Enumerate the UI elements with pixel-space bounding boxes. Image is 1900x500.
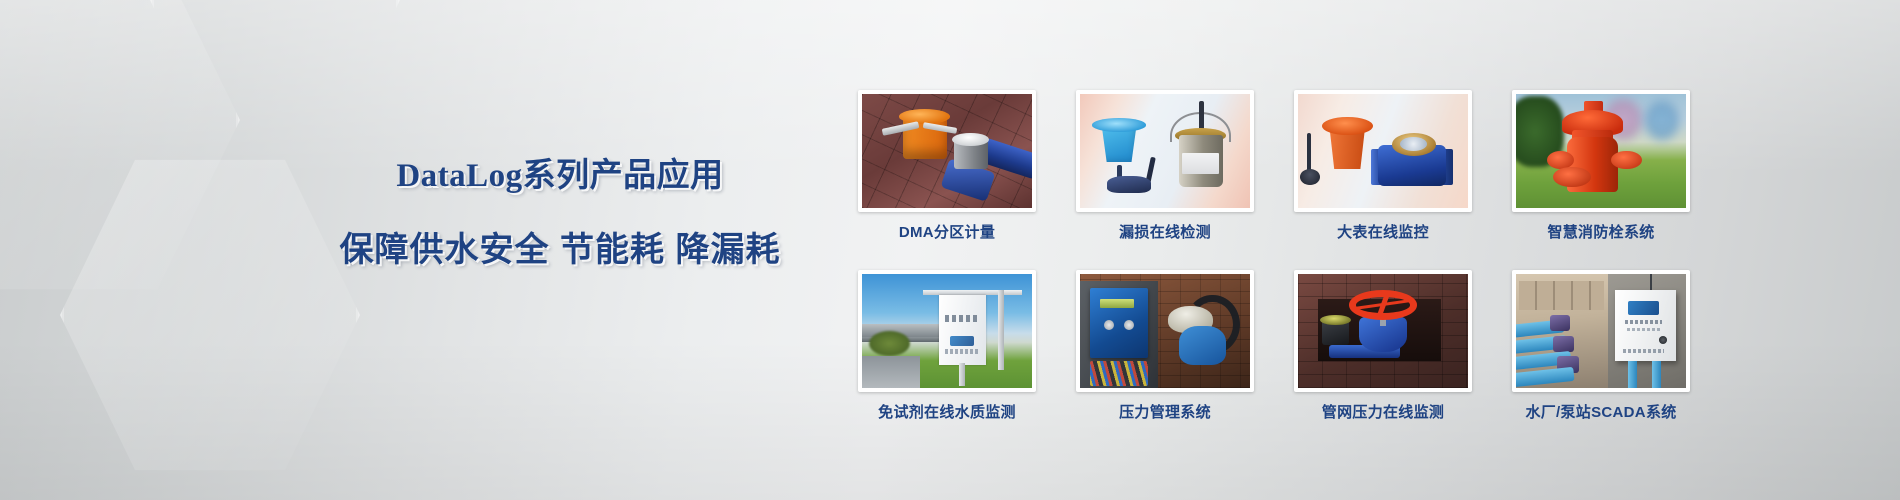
- hydrant-nozzle-right: [1611, 151, 1642, 169]
- signboard-leg: [959, 363, 965, 386]
- wiring-bundle: [1090, 361, 1148, 386]
- orange-enclosure-dome: [1322, 117, 1373, 135]
- dark-blue-sensor-pod: [1107, 176, 1151, 193]
- product-caption: 水厂/泵站SCADA系统: [1512, 401, 1690, 422]
- signboard-title-text: [945, 315, 979, 322]
- product-cell-large-meter[interactable]: 大表在线监控: [1294, 90, 1472, 252]
- cabinet-footer-text: [1623, 349, 1664, 353]
- meter-dial: [1400, 137, 1427, 151]
- antenna-rod: [1307, 133, 1311, 172]
- banner-headline: DataLog系列产品应用 保障供水安全 节能耗 降漏耗: [300, 148, 820, 271]
- product-caption: 管网压力在线监测: [1294, 401, 1472, 422]
- product-caption: 漏损在线检测: [1076, 221, 1254, 242]
- product-thumbnail-frame[interactable]: [858, 270, 1036, 392]
- large-meter-monitoring-photo: [1298, 94, 1468, 208]
- promo-banner: DataLog系列产品应用 保障供水安全 节能耗 降漏耗 DMA分区计量: [0, 0, 1900, 500]
- reagent-free-water-quality-photo: [862, 274, 1032, 388]
- dma-metering-photo: [862, 94, 1032, 208]
- roadside-tree: [869, 331, 910, 356]
- pipe-network-pressure-photo: [1298, 274, 1468, 388]
- scada-system-photo: [1516, 274, 1686, 388]
- product-thumbnail-grid: DMA分区计量 漏损在线检测: [858, 90, 1690, 432]
- cabinet-indicator: [1659, 336, 1668, 344]
- product-cell-smart-hydrant[interactable]: 智慧消防栓系统: [1512, 90, 1690, 252]
- monitoring-station-signboard: [939, 295, 987, 366]
- background-bokeh-right: [1645, 101, 1679, 140]
- headline-line-2: 保障供水安全 节能耗 降漏耗: [300, 222, 820, 271]
- headline-line-1: DataLog系列产品应用: [300, 148, 820, 196]
- company-logo-mark: [950, 336, 974, 346]
- product-thumbnail-frame[interactable]: [1076, 270, 1254, 392]
- cabinet-model-text: [1627, 328, 1661, 331]
- product-thumbnail-frame[interactable]: [1294, 90, 1472, 212]
- controller-button-left[interactable]: [1104, 320, 1114, 330]
- product-cell-dma-metering[interactable]: DMA分区计量: [858, 90, 1036, 252]
- company-logo-mark: [1628, 301, 1659, 315]
- product-thumbnail-frame[interactable]: [1076, 90, 1254, 212]
- pump-motor-1: [1550, 315, 1570, 331]
- product-cell-water-quality[interactable]: 免试剂在线水质监测: [858, 270, 1036, 432]
- product-thumbnail-frame[interactable]: [858, 90, 1036, 212]
- signboard-post: [998, 290, 1004, 370]
- pressure-management-photo: [1080, 274, 1250, 388]
- product-thumbnail-frame[interactable]: [1512, 90, 1690, 212]
- controller-lcd-display: [1100, 299, 1134, 308]
- product-caption: 大表在线监控: [1294, 221, 1472, 242]
- signboard-subtitle-text: [945, 349, 979, 354]
- product-thumbnail-frame[interactable]: [1294, 270, 1472, 392]
- cabinet-conduit-right: [1652, 361, 1661, 388]
- product-caption: DMA分区计量: [858, 221, 1036, 242]
- back-wall-panels: [1519, 281, 1604, 311]
- foreground-road: [862, 356, 920, 388]
- product-caption: 智慧消防栓系统: [1512, 221, 1690, 242]
- blue-housing-flange: [1092, 118, 1146, 132]
- product-cell-pipe-pressure[interactable]: 管网压力在线监测: [1294, 270, 1472, 432]
- product-cell-scada[interactable]: 水厂/泵站SCADA系统: [1512, 270, 1690, 432]
- smart-hydrant-photo: [1516, 94, 1686, 208]
- pump-motor-2: [1553, 336, 1573, 352]
- cabinet-title-text: [1625, 320, 1662, 325]
- logger-label: [1182, 153, 1219, 174]
- product-caption: 免试剂在线水质监测: [858, 401, 1036, 422]
- product-cell-leak-detection[interactable]: 漏损在线检测: [1076, 90, 1254, 252]
- product-caption: 压力管理系统: [1076, 401, 1254, 422]
- product-cell-pressure-management[interactable]: 压力管理系统: [1076, 270, 1254, 432]
- cabinet-conduit-left: [1628, 361, 1637, 388]
- leak-detection-photo: [1080, 94, 1250, 208]
- blue-pump-body: [1179, 326, 1227, 365]
- product-thumbnail-frame[interactable]: [1512, 270, 1690, 392]
